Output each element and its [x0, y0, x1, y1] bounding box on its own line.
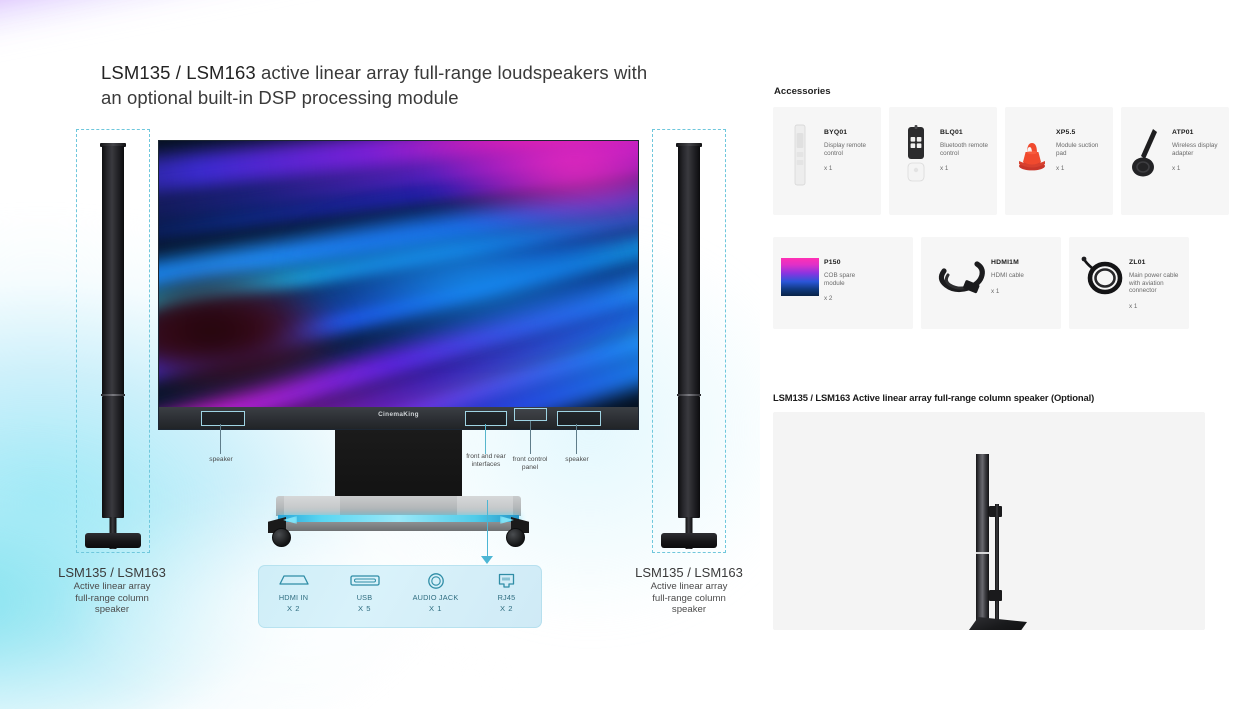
- speaker-body-lower-right: [678, 396, 700, 518]
- callout-front-rear-interfaces: front and rear interfaces: [463, 453, 509, 469]
- hdmi-cable-icon: [935, 253, 989, 301]
- cart-caster-right: [506, 528, 525, 547]
- accessory-card-zl01[interactable]: ZL01 Main power cable with aviation conn…: [1069, 237, 1189, 329]
- accessory-qty-xp55: x 1: [1056, 165, 1105, 172]
- usb-port-icon: [334, 571, 396, 590]
- accessory-card-hdmi1m[interactable]: HDMI1M HDMI cable x 1: [921, 237, 1061, 329]
- port-audio-jack-qty: X 1: [405, 604, 467, 613]
- accessory-card-byq01[interactable]: BYQ01 Display remote control x 1: [773, 107, 881, 215]
- page-title: LSM135 / LSM163 active linear array full…: [101, 60, 741, 110]
- mobile-cart-base: [266, 496, 531, 548]
- accessory-meta-hdmi1m: HDMI1M HDMI cable x 1: [989, 253, 1024, 295]
- optional-speaker-pole: [995, 504, 999, 627]
- accessory-card-atp01[interactable]: ATP01 Wireless display adapter x 1: [1121, 107, 1229, 215]
- accessory-desc-xp55: Module suction pad: [1056, 142, 1105, 157]
- accessories-heading: Accessories: [774, 86, 831, 97]
- accessory-qty-byq01: x 1: [824, 165, 873, 172]
- speaker-right-model: LSM135 / LSM163: [589, 564, 760, 581]
- main-display[interactable]: CinemaKing: [158, 140, 639, 430]
- accessory-code-hdmi1m: HDMI1M: [991, 259, 1024, 266]
- ports-arrow-icon: [481, 556, 493, 564]
- accessories-row-1: BYQ01 Display remote control x 1 BLQ01 B…: [773, 107, 1229, 215]
- cart-caster-left: [272, 528, 291, 547]
- leader-speaker-right: [576, 424, 577, 454]
- callout-front-control-panel: front control panel: [510, 456, 550, 472]
- accessory-desc-byq01: Display remote control: [824, 142, 873, 157]
- speaker-left-desc-3: speaker: [12, 604, 212, 616]
- speaker-left-model: LSM135 / LSM163: [12, 564, 212, 581]
- accessory-meta-xp55: XP5.5 Module suction pad x 1: [1051, 123, 1105, 172]
- bezel-speaker-right-highlight: [557, 411, 601, 426]
- display-bezel: CinemaKing: [159, 407, 638, 429]
- accessory-code-atp01: ATP01: [1172, 129, 1221, 136]
- accessory-desc-blq01: Bluetooth remote control: [940, 142, 989, 157]
- suction-pad-icon: [1013, 123, 1051, 187]
- accessory-code-xp55: XP5.5: [1056, 129, 1105, 136]
- column-speaker-left[interactable]: [76, 129, 150, 553]
- accessory-card-p150[interactable]: P150 COB spare module x 2: [773, 237, 913, 329]
- accessory-card-xp55[interactable]: XP5.5 Module suction pad x 1: [1005, 107, 1113, 215]
- speaker-caption-left: LSM135 / LSM163 Active linear array full…: [12, 564, 212, 616]
- port-usb-label: USB: [334, 593, 396, 602]
- callout-speaker-left: speaker: [196, 456, 246, 464]
- port-rj45[interactable]: RJ45 X 2: [476, 571, 538, 613]
- speaker-caption-right: LSM135 / LSM163 Active linear array full…: [589, 564, 760, 616]
- leader-control-panel: [530, 421, 531, 454]
- power-cable-icon: [1079, 253, 1127, 301]
- accessory-meta-p150: P150 COB spare module x 2: [819, 253, 876, 302]
- accessory-qty-zl01: x 1: [1129, 303, 1181, 310]
- cart-top-surface: [276, 496, 521, 516]
- bezel-interfaces-highlight: [465, 411, 507, 426]
- accessory-code-zl01: ZL01: [1129, 259, 1181, 266]
- accessory-qty-atp01: x 1: [1172, 165, 1221, 172]
- speaker-right-desc-3: speaker: [589, 604, 760, 616]
- speaker-base-left: [85, 533, 141, 548]
- accessory-qty-p150: x 2: [824, 295, 876, 302]
- speaker-left-desc-1: Active linear array: [12, 581, 212, 593]
- cart-skirt: [276, 522, 521, 531]
- ports-panel: HDMI IN X 2 USB X 5 AUDIO JACK X 1 RJ45 …: [258, 565, 542, 628]
- display-stand-neck: [335, 430, 462, 502]
- column-speaker-right[interactable]: [652, 129, 726, 553]
- optional-speaker-clamp-lower: [989, 590, 1002, 601]
- accessory-code-blq01: BLQ01: [940, 129, 989, 136]
- bezel-control-panel-highlight: [514, 408, 547, 421]
- accessory-meta-zl01: ZL01 Main power cable with aviation conn…: [1127, 253, 1181, 310]
- optional-speaker-heading: LSM135 / LSM163 Active linear array full…: [773, 392, 1094, 403]
- audio-jack-icon: [405, 571, 467, 590]
- bezel-speaker-left-highlight: [201, 411, 245, 426]
- port-usb[interactable]: USB X 5: [334, 571, 396, 613]
- port-audio-jack[interactable]: AUDIO JACK X 1: [405, 571, 467, 613]
- accessory-desc-p150: COB spare module: [824, 272, 876, 287]
- title-line-2: an optional built-in DSP processing modu…: [101, 87, 459, 108]
- speaker-body-lower-left: [102, 396, 124, 518]
- port-audio-jack-label: AUDIO JACK: [405, 593, 467, 602]
- right-panel: Accessories BYQ01 Display remote control…: [760, 0, 1260, 709]
- accessory-meta-atp01: ATP01 Wireless display adapter x 1: [1167, 123, 1221, 172]
- accessory-code-p150: P150: [824, 259, 876, 266]
- leader-speaker-left: [220, 424, 221, 454]
- callout-speaker-right: speaker: [552, 456, 602, 464]
- speaker-body-upper-right: [678, 146, 700, 396]
- remote-control-icon: [781, 123, 819, 187]
- speaker-left-desc-2: full-range column: [12, 593, 212, 605]
- cob-module-icon: [781, 253, 819, 301]
- optional-speaker-seam: [976, 552, 989, 554]
- accessory-desc-zl01: Main power cable with aviation connector: [1129, 272, 1181, 295]
- optional-speaker-card[interactable]: [773, 412, 1205, 630]
- title-rest: active linear array full-range loudspeak…: [256, 62, 648, 83]
- port-rj45-qty: X 2: [476, 604, 538, 613]
- wireless-adapter-icon: [1129, 123, 1167, 187]
- hdmi-port-icon: [263, 571, 325, 590]
- title-model: LSM135 / LSM163: [101, 62, 256, 83]
- speaker-right-desc-2: full-range column: [589, 593, 760, 605]
- accessory-qty-blq01: x 1: [940, 165, 989, 172]
- hero-panel: LSM135 / LSM163 active linear array full…: [0, 0, 760, 709]
- leader-interfaces: [485, 424, 486, 454]
- accessory-code-byq01: BYQ01: [824, 129, 873, 136]
- port-usb-qty: X 5: [334, 604, 396, 613]
- accessory-qty-hdmi1m: x 1: [991, 288, 1024, 295]
- speaker-right-desc-1: Active linear array: [589, 581, 760, 593]
- port-hdmi[interactable]: HDMI IN X 2: [263, 571, 325, 613]
- display-screen-artwork: [159, 141, 638, 429]
- accessory-meta-blq01: BLQ01 Bluetooth remote control x 1: [935, 123, 989, 172]
- rj45-port-icon: [476, 571, 538, 590]
- accessory-card-blq01[interactable]: BLQ01 Bluetooth remote control x 1: [889, 107, 997, 215]
- ports-connector-line: [487, 500, 488, 558]
- port-hdmi-qty: X 2: [263, 604, 325, 613]
- accessory-desc-hdmi1m: HDMI cable: [991, 272, 1024, 280]
- accessories-row-2: P150 COB spare module x 2 HDMI1M HDMI ca…: [773, 237, 1189, 329]
- port-hdmi-label: HDMI IN: [263, 593, 325, 602]
- port-rj45-label: RJ45: [476, 593, 538, 602]
- accessory-meta-byq01: BYQ01 Display remote control x 1: [819, 123, 873, 172]
- speaker-body-upper-left: [102, 146, 124, 396]
- bluetooth-remote-icon: [897, 123, 935, 187]
- speaker-base-right: [661, 533, 717, 548]
- accessory-desc-atp01: Wireless display adapter: [1172, 142, 1221, 157]
- optional-speaker-column: [976, 454, 989, 630]
